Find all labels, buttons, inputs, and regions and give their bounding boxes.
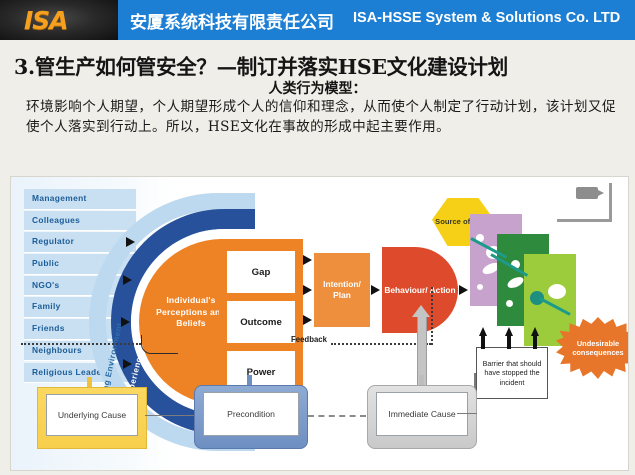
human-behaviour-model-diagram: Management Colleagues Regulator Public N…	[10, 176, 629, 471]
feedback-dotted-line	[331, 343, 431, 345]
slice-hole	[506, 300, 513, 307]
slice-hole	[477, 284, 483, 290]
feedback-label: Feedback	[291, 335, 327, 344]
immediate-to-barrier-connector	[457, 413, 477, 414]
box-tab	[87, 377, 92, 387]
feedback-vertical-line	[431, 287, 433, 345]
arrow-icon	[126, 237, 135, 247]
arrow-icon	[121, 317, 130, 327]
precondition-box: Precondition	[194, 385, 308, 449]
company-name-cn: 安厦系统科技有限责任公司	[130, 8, 334, 33]
company-name-en: ISA-HSSE System & Solutions Co. LTD	[353, 10, 620, 26]
arrow-icon	[459, 285, 468, 295]
arrow-icon	[303, 315, 312, 325]
company-banner: 安厦系统科技有限责任公司 ISA-HSSE System & Solutions…	[118, 0, 635, 40]
factors-panel: Gap Outcome Power	[219, 239, 303, 405]
intention-plan-box: Intention/ Plan	[314, 253, 370, 327]
barrier-callout-box: Barrier that should have stopped the inc…	[476, 347, 548, 399]
feedback-hook	[141, 335, 178, 354]
arrow-stem	[533, 335, 537, 349]
undesirable-consequences-label: Undesirable consequences	[569, 339, 627, 358]
page-header: ISA 安厦系统科技有限责任公司 ISA-HSSE System & Solut…	[0, 0, 635, 40]
precondition-label: Precondition	[203, 392, 299, 436]
list-item: Management	[24, 189, 136, 210]
escalation-arrow-head	[412, 305, 430, 317]
body-paragraph: 环境影响个人期望，个人期望形成个人的信仰和理念，从而使个人制定了行动计划，该计划…	[26, 97, 616, 137]
factor-gap: Gap	[227, 251, 295, 293]
slice-hole	[548, 284, 566, 299]
list-item: Colleagues	[24, 211, 136, 232]
page-title: 3.管生产如何管安全？—制订并落实HSE文化建设计划	[14, 50, 622, 80]
immediate-cause-label: Immediate Cause	[376, 392, 468, 436]
arrow-stem	[481, 335, 485, 349]
section-subtitle: 人类行为模型：	[0, 78, 635, 98]
feedback-dotted-line	[21, 343, 141, 345]
arrow-stem	[507, 335, 511, 349]
underlying-cause-label: Underlying Cause	[46, 394, 138, 436]
arrow-icon	[123, 359, 132, 369]
isa-logo-icon: ISA	[24, 6, 68, 35]
chain-connector	[145, 415, 194, 416]
arrow-icon	[371, 285, 380, 295]
video-camera-lens-icon	[596, 189, 604, 197]
arrow-icon	[123, 275, 132, 285]
video-camera-icon	[576, 187, 598, 199]
underlying-cause-box: Underlying Cause	[37, 387, 147, 449]
factor-outcome: Outcome	[227, 301, 295, 343]
chain-dashed-connector	[308, 415, 366, 417]
arrow-icon	[303, 285, 312, 295]
box-tab	[419, 375, 424, 385]
slice-hole	[506, 275, 525, 290]
arrow-icon	[303, 255, 312, 265]
immediate-cause-box: Immediate Cause	[367, 385, 477, 449]
slide-text-area: 3.管生产如何管安全？—制订并落实HSE文化建设计划 人类行为模型： 环境影响个…	[0, 40, 635, 170]
box-tab	[247, 375, 252, 385]
logo-container: ISA	[0, 0, 118, 40]
